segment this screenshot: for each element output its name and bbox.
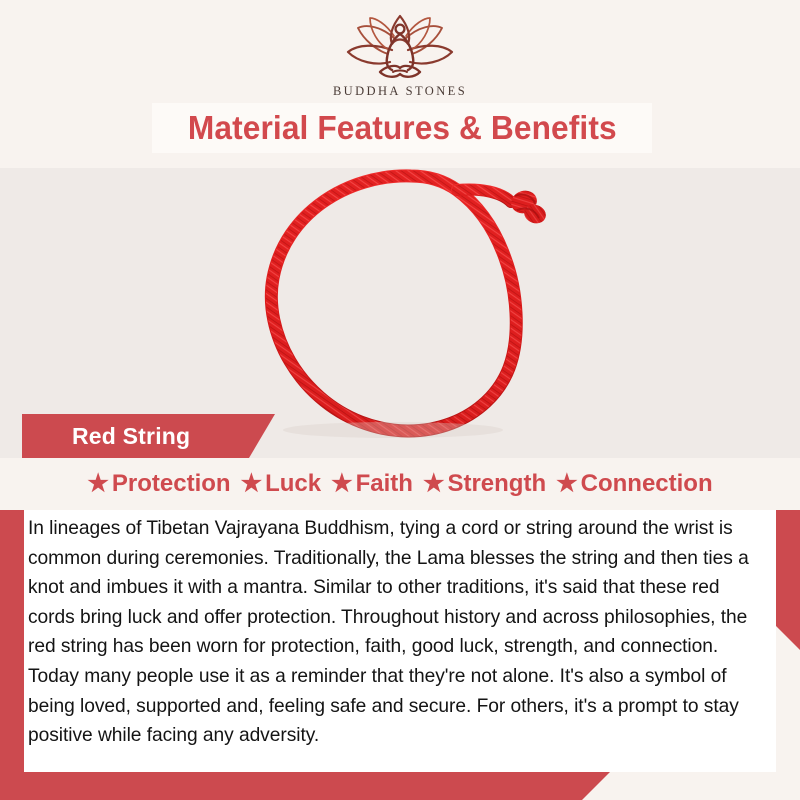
feature-item-faith: ★ Faith — [326, 470, 418, 498]
feature-item-protection: ★ Protection — [82, 470, 235, 498]
feature-label: Connection — [581, 470, 713, 498]
feature-label: Faith — [356, 470, 413, 498]
product-name: Red String — [72, 423, 190, 450]
feature-item-connection: ★ Connection — [551, 470, 718, 498]
feature-item-luck: ★ Luck — [236, 470, 327, 498]
description-block: In lineages of Tibetan Vajrayana Buddhis… — [24, 510, 776, 772]
star-icon: ★ — [331, 472, 353, 496]
infographic-page: BUDDHA STONES Material Features & Benefi… — [0, 0, 800, 800]
product-name-ribbon: Red String — [22, 414, 275, 458]
star-icon: ★ — [423, 472, 445, 496]
star-icon: ★ — [87, 472, 109, 496]
lotus-meditation-figure-icon — [336, 10, 464, 82]
feature-item-strength: ★ Strength — [418, 470, 551, 498]
star-icon: ★ — [241, 472, 263, 496]
title-banner: Material Features & Benefits — [152, 103, 652, 153]
brand-logo: BUDDHA STONES — [285, 10, 515, 99]
star-icon: ★ — [556, 472, 578, 496]
feature-label: Protection — [112, 470, 231, 498]
feature-label: Luck — [265, 470, 321, 498]
description-text: In lineages of Tibetan Vajrayana Buddhis… — [28, 514, 770, 751]
feature-label: Strength — [447, 470, 546, 498]
feature-list: ★ Protection ★ Luck ★ Faith ★ Strength ★… — [0, 458, 800, 510]
brand-name: BUDDHA STONES — [333, 84, 467, 99]
red-string-bracelet-image — [243, 168, 573, 454]
page-title: Material Features & Benefits — [188, 109, 617, 147]
